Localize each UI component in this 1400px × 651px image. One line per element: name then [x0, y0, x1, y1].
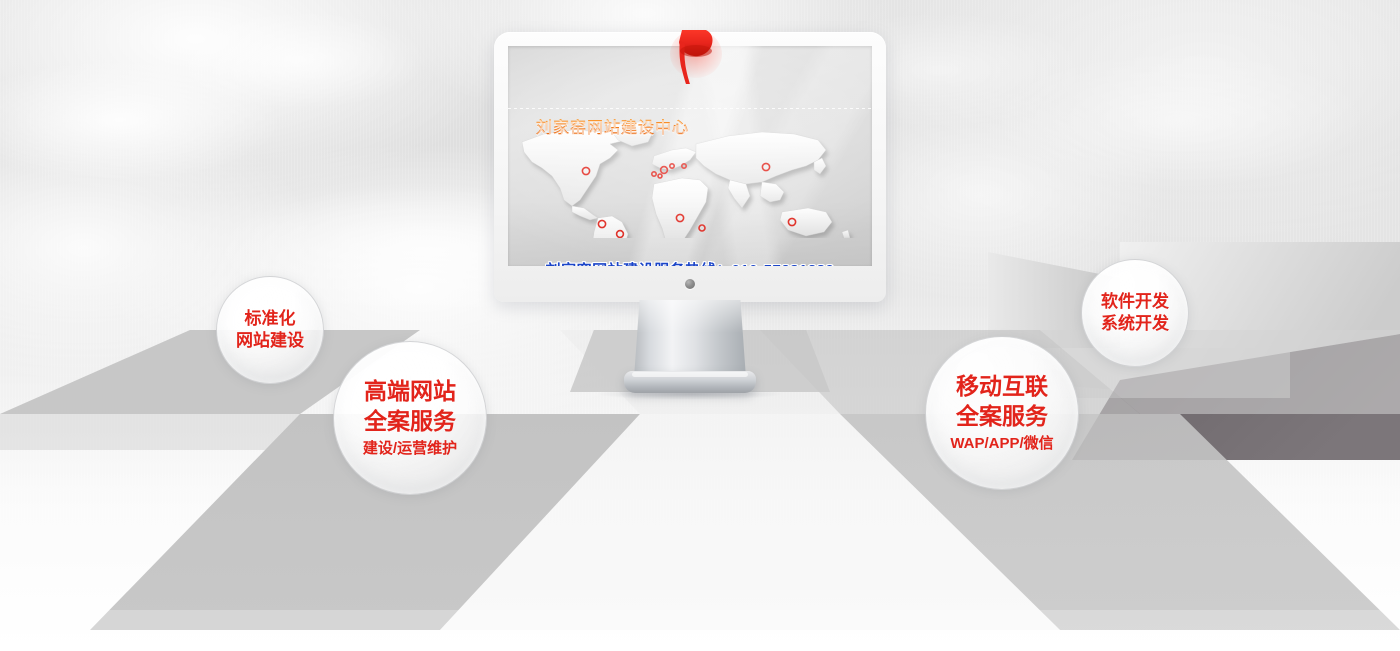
- screen-dotted-divider: [508, 108, 872, 109]
- power-led-icon: [685, 279, 695, 289]
- monitor-screen: 刘家窑网站建设中心 刘家窑网站建设服务热线：010-57281389: [508, 46, 872, 266]
- bubble-line-1: 标准化: [245, 308, 296, 330]
- bubble-line-3: 建设/运营维护: [363, 439, 457, 458]
- bubble-line-2: 全案服务: [956, 402, 1048, 431]
- screen-title: 刘家窑网站建设中心: [536, 114, 689, 138]
- monitor-stand-base: [624, 371, 756, 393]
- bubble-software-dev[interactable]: 软件开发 系统开发: [1081, 259, 1189, 367]
- monitor-stand-neck: [634, 300, 746, 378]
- bubble-line-2: 网站建设: [236, 330, 304, 352]
- bubble-line-2: 全案服务: [364, 407, 456, 436]
- bubble-line-1: 移动互联: [956, 372, 1048, 401]
- bubble-line-1: 高端网站: [364, 377, 456, 406]
- bubble-line-3: WAP/APP/微信: [950, 434, 1053, 453]
- bubble-line-1: 软件开发: [1101, 291, 1169, 313]
- desktop-monitor: 刘家窑网站建设中心 刘家窑网站建设服务热线：010-57281389: [494, 32, 886, 302]
- banner-stage: 刘家窑网站建设中心 刘家窑网站建设服务热线：010-57281389: [0, 0, 1400, 651]
- bubble-standard-site[interactable]: 标准化 网站建设: [216, 276, 324, 384]
- bubble-line-2: 系统开发: [1101, 313, 1169, 335]
- hotline-text: 刘家窑网站建设服务热线：010-57281389: [508, 259, 872, 266]
- bubble-premium-site[interactable]: 高端网站 全案服务 建设/运营维护: [333, 341, 487, 495]
- bubble-mobile-internet[interactable]: 移动互联 全案服务 WAP/APP/微信: [925, 336, 1079, 490]
